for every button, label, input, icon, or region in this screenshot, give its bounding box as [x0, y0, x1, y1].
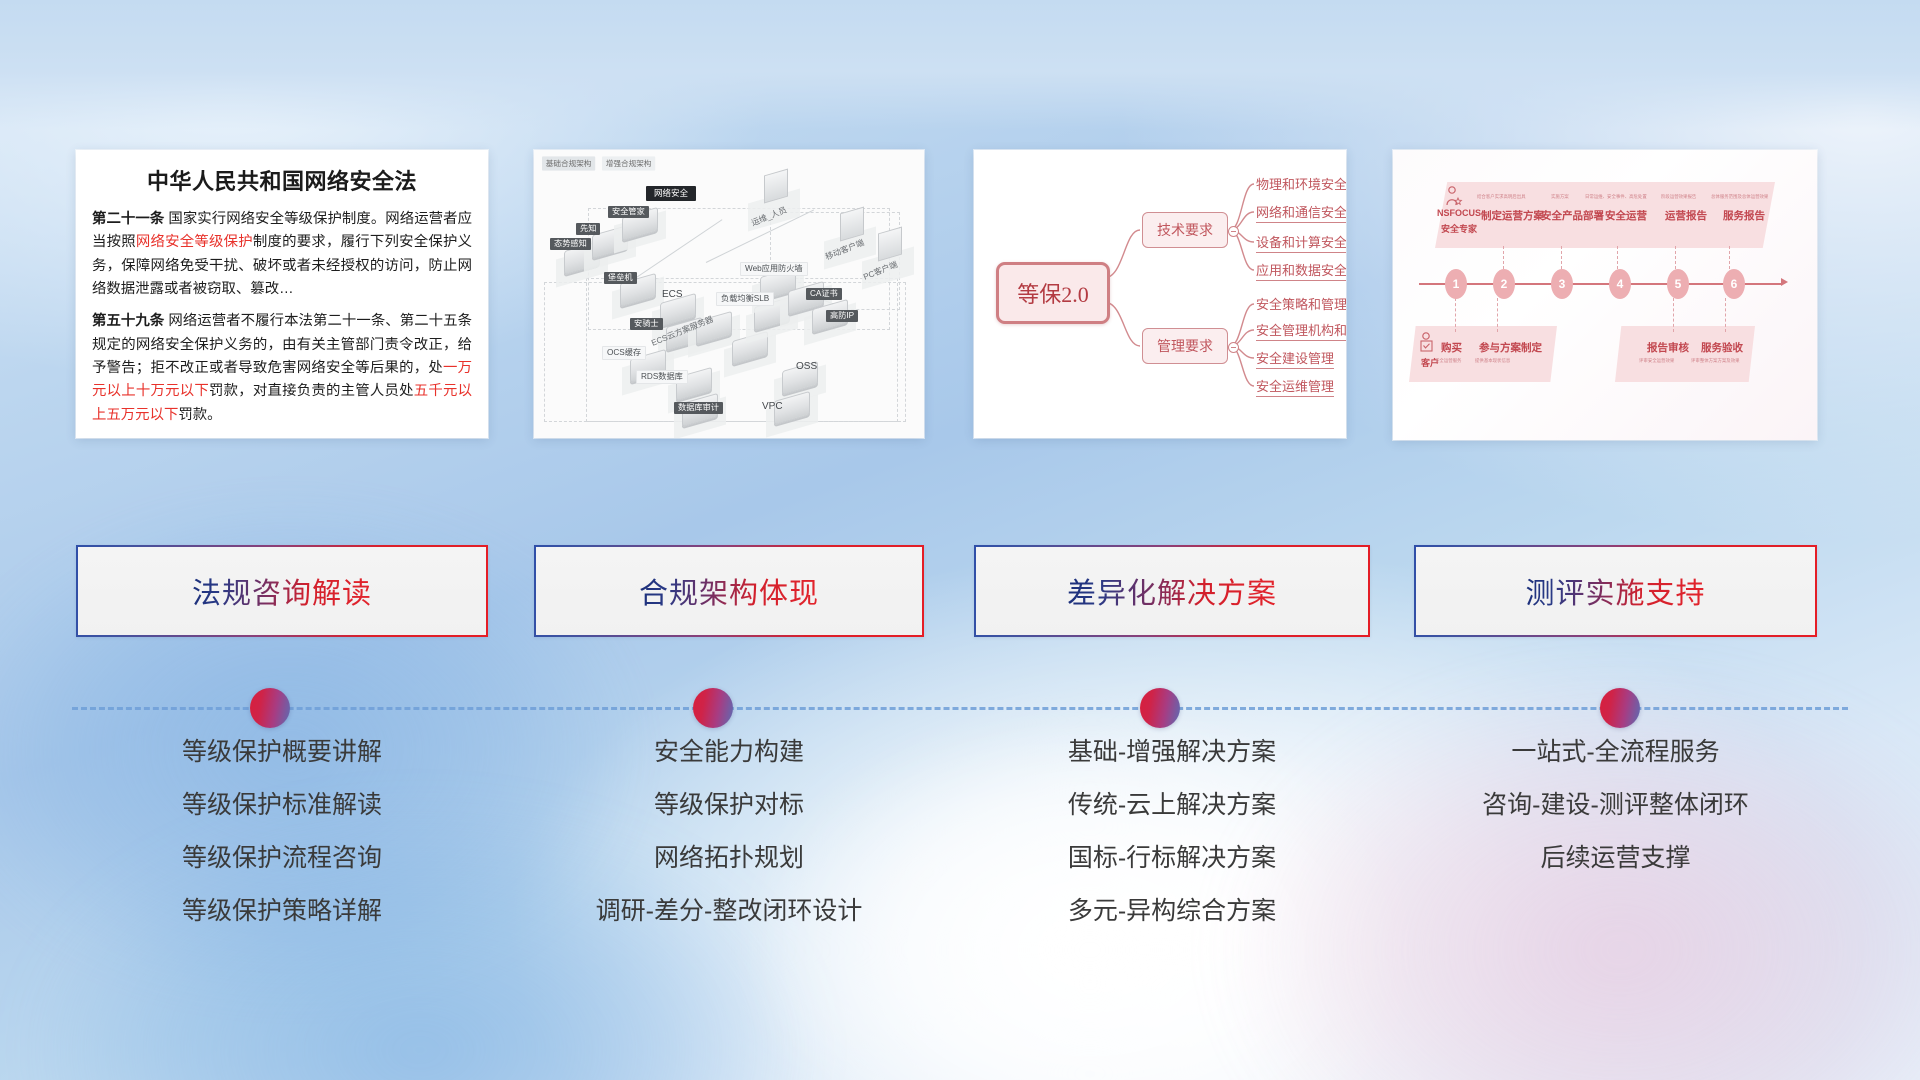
list-item: 国标-行标解决方案 [974, 846, 1370, 871]
bullet-column-regulation-consulting: 等级保护概要讲解 等级保护标准解读 等级保护流程咨询 等级保护策略详解 [76, 740, 488, 952]
mindmap-leaf: 安全运维管理 [1256, 376, 1334, 397]
law-text-seg: 罚款，对直接负责的主管人员处 [209, 383, 414, 399]
ops-step-dot: 1 [1445, 269, 1467, 299]
mindmap-leaf-label: 安全策略和管理制度 [1256, 297, 1346, 312]
mindmap-leaf-label: 安全建设管理 [1256, 351, 1334, 366]
person-check-icon [1419, 332, 1437, 354]
mindmap: 等保2.0 技术要求 物理和环境安全 网络和通信安全 设备和计算安全 应用和数据… [974, 150, 1346, 438]
ops-leader [1497, 298, 1499, 332]
mindmap-leaf-label: 安全管理机构和人员 [1256, 323, 1346, 338]
ops-customer-caption: 评审安全运营效果 [1639, 358, 1674, 364]
list-item: 等级保护对标 [534, 793, 924, 818]
thumbnail-mindmap-dengbao[interactable]: 等保2.0 技术要求 物理和环境安全 网络和通信安全 设备和计算安全 应用和数据… [974, 150, 1346, 438]
list-item: 网络拓扑规划 [534, 846, 924, 871]
list-item: 后续运营支撑 [1414, 846, 1817, 871]
ops-leader [1725, 298, 1727, 332]
ops-customer-caption: 提供基本现状信息 [1475, 358, 1510, 364]
architecture-tabs: 基础合规架构 增强合规架构 [542, 156, 658, 171]
architecture-label-xianzhi: 先知 [576, 223, 600, 235]
mindmap-collapse-icon[interactable] [1228, 342, 1239, 353]
architecture-label-oss: OSS [796, 362, 817, 372]
ops-customer-title: 报告审核 [1647, 340, 1689, 355]
mindmap-branch-management: 管理要求 [1142, 328, 1228, 364]
ops-step-caption: 实施方案 [1551, 194, 1569, 200]
timeline [0, 688, 1920, 728]
thumbnail-cloud-architecture[interactable]: 基础合规架构 增强合规架构 [534, 150, 924, 438]
architecture-label-db-audit: 数据库审计 [674, 402, 723, 414]
timeline-dot-2[interactable] [693, 688, 733, 728]
ops-step-title: 制定运营方案 [1481, 208, 1544, 223]
list-item: 咨询-建设-测评整体闭环 [1414, 793, 1817, 818]
ops-customer-caption: 评审整体方案方案及效果 [1691, 358, 1740, 364]
ops-customer-title: 参与方案制定 [1479, 340, 1542, 355]
headline-box-assessment-support[interactable]: 测评实施支持 [1414, 545, 1817, 637]
bullet-columns: 等级保护概要讲解 等级保护标准解读 等级保护流程咨询 等级保护策略详解 安全能力… [0, 740, 1920, 980]
bullet-column-differentiated-solution: 基础-增强解决方案 传统-云上解决方案 国标-行标解决方案 多元-异构综合方案 [974, 740, 1370, 952]
architecture-label-anqishi: 安骑士 [630, 318, 663, 330]
ops-axis-arrow-icon [1781, 278, 1788, 286]
ops-step-title: 运营报告 [1665, 208, 1707, 223]
headline-box-compliance-architecture[interactable]: 合规架构体现 [534, 545, 924, 637]
architecture-label-bastion-host: 堡垒机 [604, 272, 637, 284]
ops-step-caption: 阶段运营效果报告 [1661, 194, 1696, 200]
architecture-label-ocs-cache: OCS缓存 [602, 346, 646, 360]
ops-customer-title: 服务验收 [1701, 340, 1743, 355]
architecture-label-slb: 负载均衡SLB [716, 292, 774, 306]
mindmap-leaf: 设备和计算安全 [1256, 232, 1346, 253]
architecture-label-rds-db: RDS数据库 [636, 370, 688, 384]
architecture-label-vpc: VPC [762, 402, 783, 412]
mindmap-leaf: 安全建设管理 [1256, 348, 1334, 369]
mindmap-root-node: 等保2.0 [996, 262, 1110, 324]
list-item: 等级保护标准解读 [76, 793, 488, 818]
law-article-number: 第二十一条 [92, 211, 164, 227]
ops-actor-expert-line2: 安全专家 [1441, 222, 1477, 235]
bullet-column-compliance-architecture: 安全能力构建 等级保护对标 网络拓扑规划 调研-差分-整改闭环设计 [534, 740, 924, 952]
ops-step-dot: 6 [1723, 269, 1745, 299]
ops-step-dot: 4 [1609, 269, 1631, 299]
ops-step-dot: 2 [1493, 269, 1515, 299]
mindmap-leaf: 安全管理机构和人员 [1256, 320, 1346, 341]
headline-label: 法规咨询解读 [192, 570, 372, 612]
list-item: 一站式-全流程服务 [1414, 740, 1817, 765]
timeline-dot-1[interactable] [250, 688, 290, 728]
architecture-label-situational-awareness: 态势感知 [550, 238, 591, 250]
architecture-label-waf: Web应用防火墙 [740, 262, 808, 276]
mindmap-leaf: 安全策略和管理制度 [1256, 294, 1346, 315]
ops-flow-diagram: NSFOCUS 安全专家 客户 制定运营方案 结合客户实求高明后出具 安全产品部… [1393, 150, 1817, 440]
mindmap-collapse-icon[interactable] [1228, 226, 1239, 237]
slide-stage: 中华人民共和国网络安全法 第二十一条 国家实行网络安全等级保护制度。网络运营者应… [0, 0, 1920, 1080]
law-document: 中华人民共和国网络安全法 第二十一条 国家实行网络安全等级保护制度。网络运营者应… [76, 150, 488, 438]
ops-step-title: 安全运营 [1605, 208, 1647, 223]
ops-customer-title: 购买 [1441, 340, 1462, 355]
list-item: 调研-差分-整改闭环设计 [534, 899, 924, 924]
list-item: 等级保护概要讲解 [76, 740, 488, 765]
mindmap-leaf: 网络和通信安全 [1256, 202, 1346, 223]
timeline-dashed-line [72, 707, 1848, 710]
headline-label: 测评实施支持 [1525, 570, 1705, 612]
list-item: 传统-云上解决方案 [974, 793, 1370, 818]
mindmap-leaf-label: 应用和数据安全 [1256, 263, 1346, 278]
ops-step-title: 安全产品部署 [1541, 208, 1604, 223]
ops-step-caption: 结合客户实求高明后出具 [1477, 194, 1526, 200]
mindmap-leaf: 应用和数据安全 [1256, 260, 1346, 281]
mindmap-branch-technical: 技术要求 [1142, 212, 1228, 248]
timeline-dot-4[interactable] [1600, 688, 1640, 728]
mindmap-leaf-label: 安全运维管理 [1256, 379, 1334, 394]
ops-actor-expert-line1: NSFOCUS [1437, 208, 1481, 218]
list-item: 等级保护策略详解 [76, 899, 488, 924]
architecture-tab-enhanced[interactable]: 增强合规架构 [602, 156, 655, 170]
headline-label: 合规架构体现 [639, 570, 819, 612]
thumbnail-row: 中华人民共和国网络安全法 第二十一条 国家实行网络安全等级保护制度。网络运营者应… [0, 150, 1920, 440]
law-text-seg: 罚款。 [178, 407, 221, 423]
law-text-highlight: 网络安全等级保护 [136, 234, 253, 250]
ops-step-dot: 5 [1667, 269, 1689, 299]
ops-leader [1455, 298, 1457, 332]
architecture-tab-basic[interactable]: 基础合规架构 [542, 156, 595, 170]
architecture-label-network-security: 网络安全 [646, 186, 696, 201]
thumbnail-cybersecurity-law[interactable]: 中华人民共和国网络安全法 第二十一条 国家实行网络安全等级保护制度。网络运营者应… [76, 150, 488, 438]
architecture-label-ca-cert: CA证书 [806, 288, 842, 300]
mindmap-leaf: 物理和环境安全 [1256, 174, 1346, 195]
architecture-label-ecs: ECS [662, 290, 683, 300]
mindmap-leaf-label: 设备和计算安全 [1256, 235, 1346, 250]
list-item: 等级保护流程咨询 [76, 846, 488, 871]
architecture-label-security-butler: 安全管家 [608, 206, 649, 218]
architecture-diagram: 基础合规架构 增强合规架构 [534, 150, 924, 438]
headline-row: 法规咨询解读 合规架构体现 差异化解决方案 测评实施支持 [0, 545, 1920, 645]
ops-step-dot: 3 [1551, 269, 1573, 299]
timeline-dot-3[interactable] [1140, 688, 1180, 728]
thumbnail-ops-flow[interactable]: NSFOCUS 安全专家 客户 制定运营方案 结合客户实求高明后出具 安全产品部… [1393, 150, 1817, 440]
ops-step-caption: 总体服务范围及总体运营效果 [1711, 194, 1768, 200]
headline-box-differentiated-solution[interactable]: 差异化解决方案 [974, 545, 1370, 637]
mindmap-leaf-label: 物理和环境安全 [1256, 177, 1346, 192]
person-star-icon [1445, 186, 1463, 206]
headline-box-regulation-consulting[interactable]: 法规咨询解读 [76, 545, 488, 637]
law-paragraph-59: 第五十九条 网络运营者不履行本法第二十一条、第二十五条规定的网络安全保护义务的，… [92, 310, 472, 427]
ops-customer-caption: 安全运营服务 [1435, 358, 1461, 364]
headline-label: 差异化解决方案 [1067, 570, 1277, 612]
architecture-label-anti-ddos-ip: 高防IP [826, 310, 858, 322]
list-item: 安全能力构建 [534, 740, 924, 765]
list-item: 基础-增强解决方案 [974, 740, 1370, 765]
law-title: 中华人民共和国网络安全法 [92, 164, 472, 196]
bullet-column-assessment-support: 一站式-全流程服务 咨询-建设-测评整体闭环 后续运营支撑 [1414, 740, 1817, 899]
ops-step-title: 服务报告 [1723, 208, 1765, 223]
law-article-number: 第五十九条 [92, 313, 164, 329]
mindmap-leaf-label: 网络和通信安全 [1256, 205, 1346, 220]
ops-leader [1673, 298, 1675, 332]
law-paragraph-21: 第二十一条 国家实行网络安全等级保护制度。网络运营者应当按照网络安全等级保护制度… [92, 208, 472, 301]
list-item: 多元-异构综合方案 [974, 899, 1370, 924]
ops-step-caption: 日常运维、安全事件、高危处置 [1585, 194, 1647, 200]
